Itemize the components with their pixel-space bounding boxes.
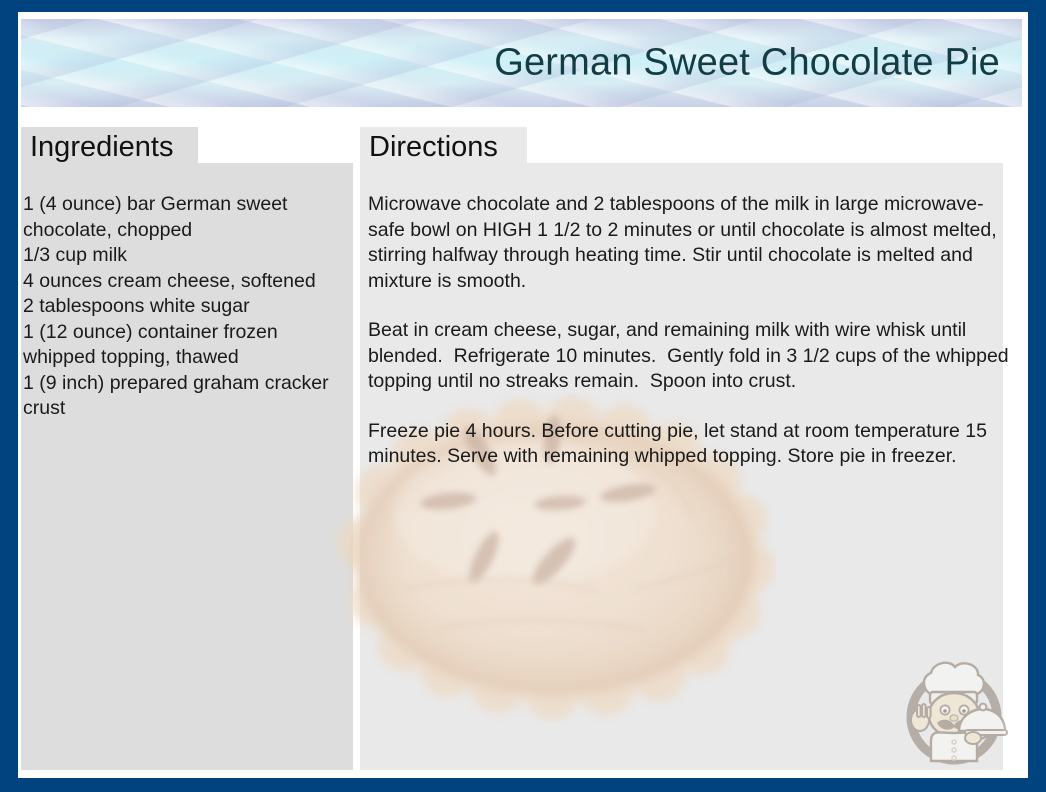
direction-step: Freeze pie 4 hours. Before cutting pie, … xyxy=(368,419,1012,470)
frame-border-right xyxy=(1028,0,1046,792)
frame-border-bottom xyxy=(0,778,1046,792)
title-banner: German Sweet Chocolate Pie xyxy=(21,19,1022,107)
frame-border-left xyxy=(0,0,18,792)
directions-section-header: Directions xyxy=(360,127,527,168)
directions-text: Microwave chocolate and 2 tablespoons of… xyxy=(368,192,1012,470)
ingredients-section-header: Ingredients xyxy=(21,127,198,168)
ingredients-text: 1 (4 ounce) bar German sweet chocolate, … xyxy=(23,192,353,422)
frame-border-top xyxy=(0,0,1046,12)
recipe-card-slide: German Sweet Chocolate Pie Ingredients D… xyxy=(0,0,1046,792)
directions-heading: Directions xyxy=(369,131,498,164)
ingredients-heading: Ingredients xyxy=(30,131,174,164)
direction-step: Microwave chocolate and 2 tablespoons of… xyxy=(368,192,1012,294)
page-title: German Sweet Chocolate Pie xyxy=(494,42,1000,85)
direction-step: Beat in cream cheese, sugar, and remaini… xyxy=(368,318,1012,395)
